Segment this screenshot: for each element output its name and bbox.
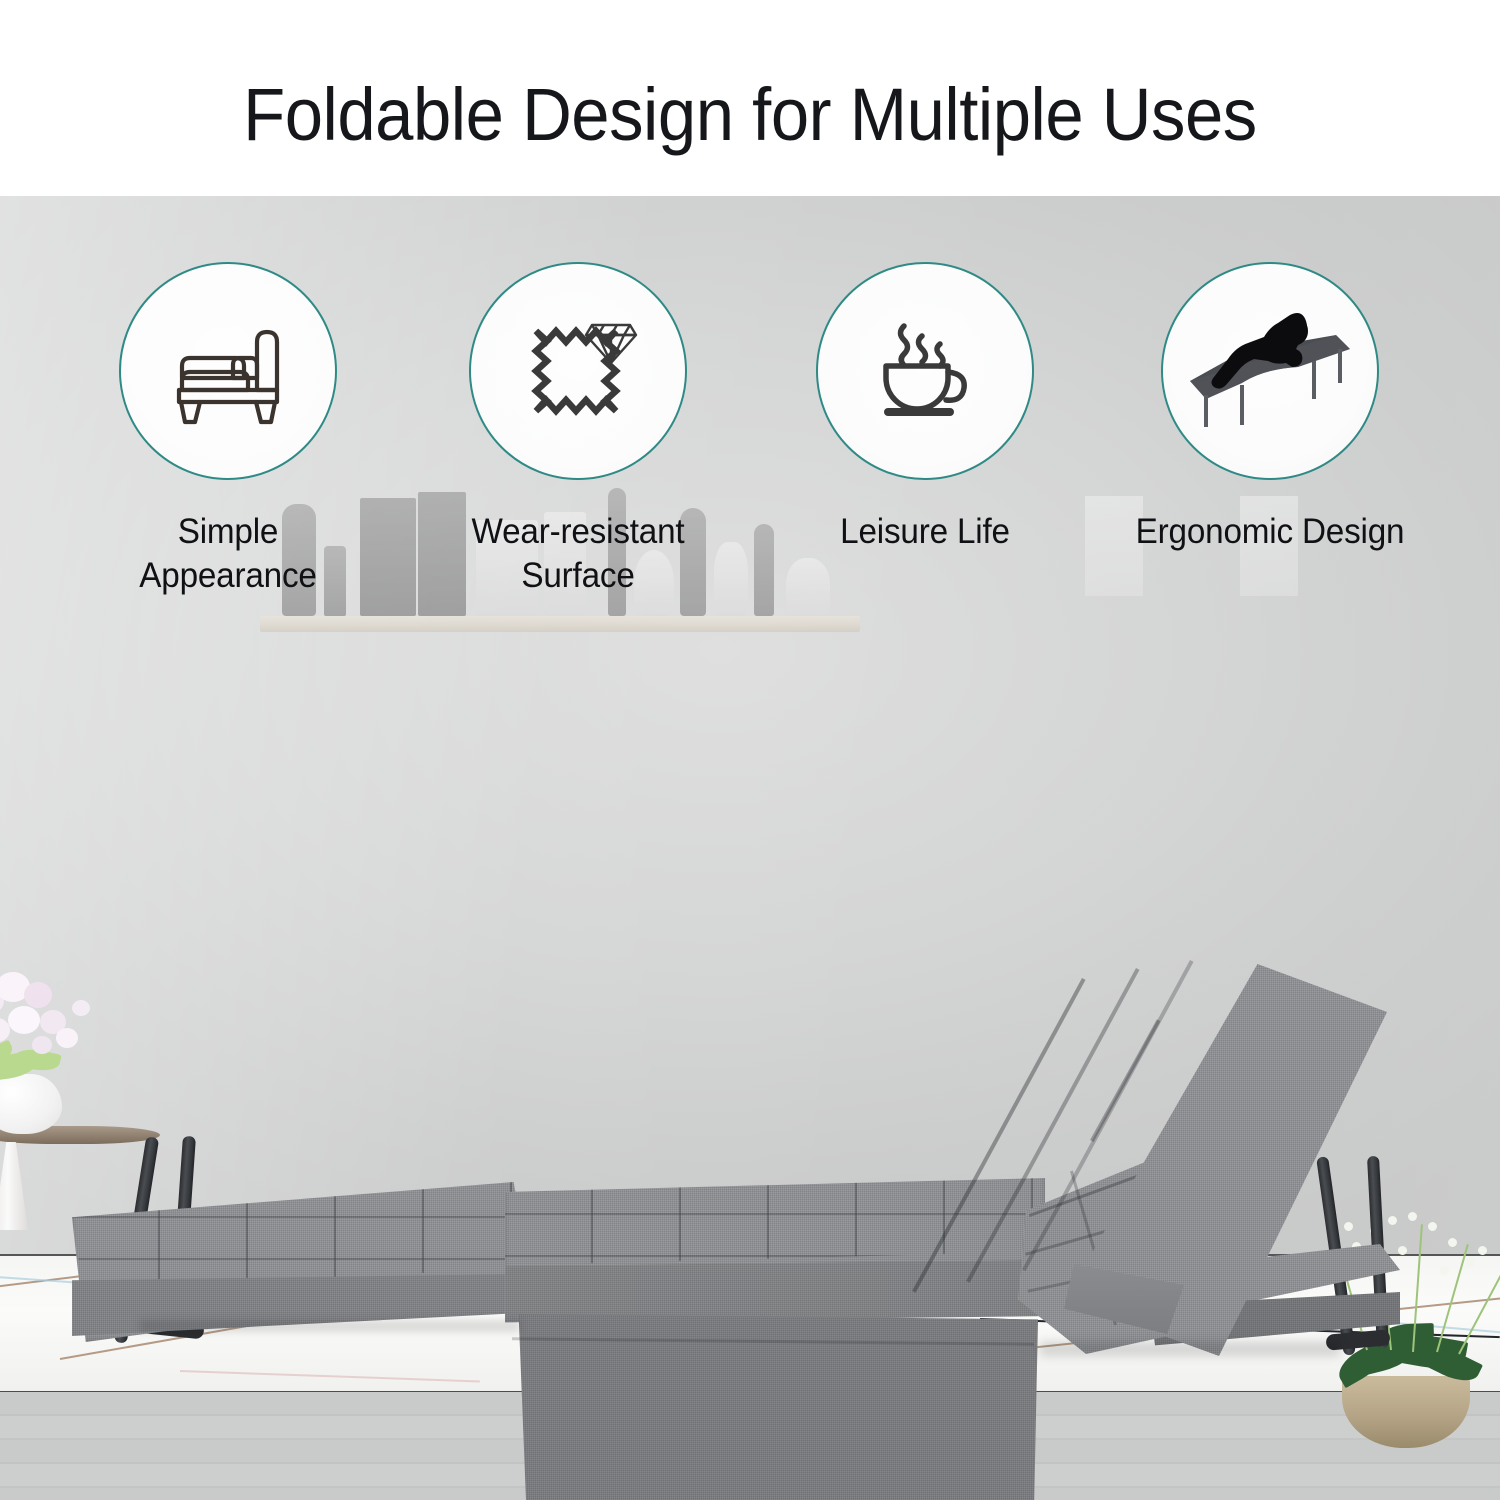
- feature-ergonomic-design[interactable]: Ergonomic Design: [1155, 262, 1385, 554]
- page-title: Foldable Design for Multiple Uses: [0, 72, 1500, 158]
- page-title-text: Foldable Design for Multiple Uses: [243, 72, 1257, 158]
- feature-label-4: Ergonomic Design: [1113, 510, 1427, 554]
- feature-circle-1: [119, 262, 337, 480]
- feature-circle-4: [1161, 262, 1379, 480]
- feature-label-1: Simple Appearance: [119, 510, 338, 598]
- feature-circle-2: [469, 262, 687, 480]
- feature-label-2: Wear-resistant Surface: [421, 510, 735, 598]
- sofa-right-under-shadow: [1040, 1342, 1340, 1356]
- feature-simple-appearance[interactable]: Simple Appearance: [113, 262, 343, 598]
- fabric-swatch-diamond-icon: [514, 307, 642, 435]
- feature-leisure-life[interactable]: Leisure Life: [810, 262, 1040, 554]
- sofa-skirt-panel: [508, 1314, 1038, 1500]
- feature-wear-resistant-surface[interactable]: Wear-resistant Surface: [463, 262, 693, 598]
- feature-label-3: Leisure Life: [816, 510, 1035, 554]
- infographic-page: Foldable Design for Multiple Uses: [0, 0, 1500, 1500]
- sofa-backrest: [1058, 964, 1408, 1364]
- feature-circle-3: [816, 262, 1034, 480]
- sofa-left-mattress-section: [72, 1182, 532, 1342]
- person-reclining-on-lounger-icon: [1186, 305, 1354, 437]
- feature-icon-row: Simple Appearance: [0, 262, 1500, 602]
- sofa-under-shadow: [140, 1320, 520, 1332]
- sofa-center-seat-section: [505, 1164, 1045, 1339]
- bed-icon: [163, 316, 293, 426]
- coffee-cup-icon: [862, 308, 988, 434]
